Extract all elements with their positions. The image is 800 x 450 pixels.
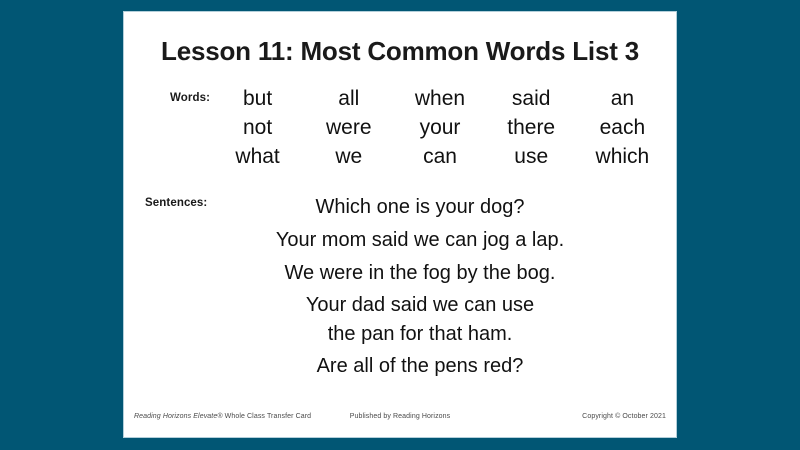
footer-copyright: Copyright © October 2021 bbox=[582, 413, 666, 420]
word-cell: which bbox=[596, 146, 650, 167]
word-cell: said bbox=[512, 88, 551, 109]
word-cell: not bbox=[243, 117, 272, 138]
words-grid: butallwhensaidannotwereyourthereeachwhat… bbox=[212, 84, 668, 171]
card-footer: Reading Horizons Elevate® Whole Class Tr… bbox=[124, 413, 676, 425]
sentence-item: Which one is your dog? bbox=[164, 192, 676, 223]
word-cell: we bbox=[335, 146, 362, 167]
sentence-item: Are all of the pens red? bbox=[164, 351, 676, 382]
sentence-line: Your mom said we can jog a lap. bbox=[164, 225, 676, 256]
sentence-item: Your mom said we can jog a lap. bbox=[164, 225, 676, 256]
page-title: Lesson 11: Most Common Words List 3 bbox=[124, 36, 676, 67]
word-cell: but bbox=[243, 88, 272, 109]
sentence-line: the pan for that ham. bbox=[164, 320, 676, 349]
word-cell: can bbox=[423, 146, 457, 167]
slide-root: Lesson 11: Most Common Words List 3 Word… bbox=[0, 0, 800, 450]
word-cell: were bbox=[326, 117, 372, 138]
sentences-list: Which one is your dog?Your mom said we c… bbox=[164, 190, 676, 382]
sentence-line: Are all of the pens red? bbox=[164, 351, 676, 382]
sentence-item: We were in the fog by the bog. bbox=[164, 258, 676, 289]
sentence-line: We were in the fog by the bog. bbox=[164, 258, 676, 289]
word-cell: your bbox=[420, 117, 461, 138]
word-cell: all bbox=[338, 88, 359, 109]
word-cell: what bbox=[235, 146, 279, 167]
words-section-label: Words: bbox=[170, 92, 210, 104]
word-cell: when bbox=[415, 88, 465, 109]
lesson-card: Lesson 11: Most Common Words List 3 Word… bbox=[124, 12, 676, 437]
sentence-line: Which one is your dog? bbox=[164, 192, 676, 223]
word-cell: there bbox=[507, 117, 555, 138]
word-cell: an bbox=[611, 88, 634, 109]
sentence-item: Your dad said we can usethe pan for that… bbox=[164, 291, 676, 349]
sentence-line: Your dad said we can use bbox=[164, 291, 676, 320]
word-cell: each bbox=[600, 117, 646, 138]
word-cell: use bbox=[514, 146, 548, 167]
